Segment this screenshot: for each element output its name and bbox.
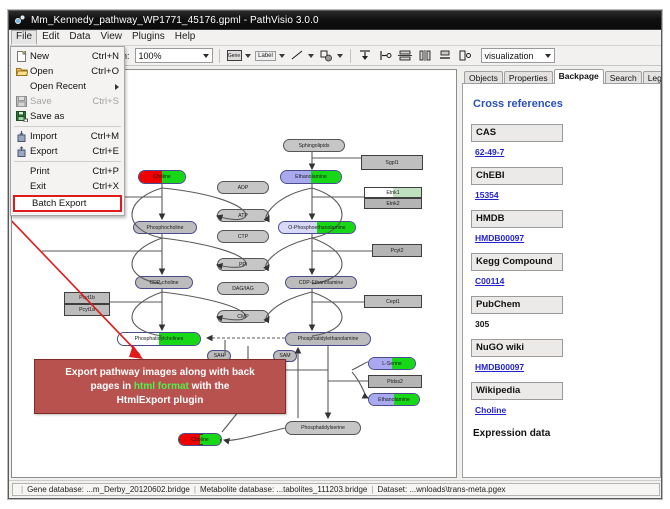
distribute-h-icon — [418, 49, 432, 62]
distribute-horizontal-button[interactable] — [417, 48, 434, 64]
menu-item-label: Open Recent — [30, 81, 115, 92]
metabolite-database-label: Metabolite database: — [200, 485, 274, 494]
align-left-icon — [378, 49, 392, 62]
stack-icon — [438, 49, 452, 62]
menu-item-label: Export — [30, 146, 92, 157]
node-label: Etnk1 — [386, 190, 399, 196]
node-label: PPi — [239, 262, 247, 268]
import-icon — [13, 131, 30, 142]
sidebar-tabstrip: Objects Properties Backpage Search Legen… — [462, 69, 661, 84]
align-top-button[interactable] — [357, 48, 374, 64]
menu-item-label: Batch Export — [15, 198, 120, 209]
menu-item-import[interactable]: ImportCtrl+M — [11, 129, 124, 144]
menu-view[interactable]: View — [95, 30, 127, 45]
toolbar-separator — [219, 49, 220, 63]
selection-handle[interactable] — [199, 433, 203, 435]
visualization-value: visualization — [485, 51, 534, 61]
xref-value-pubchem: 305 — [475, 319, 489, 329]
callout-line-2-a: pages in — [91, 381, 134, 392]
xref-value-wikipedia[interactable]: Choline — [475, 405, 506, 415]
node-label: ADP — [238, 185, 249, 191]
node-label: CDP-Ethanolamine — [299, 280, 343, 286]
node-label: Etnk2 — [386, 201, 399, 207]
xref-head-pubchem: PubChem — [471, 296, 563, 314]
xref-head-cas: CAS — [471, 124, 563, 142]
node-label: Sgpl1 — [385, 160, 398, 166]
menu-accelerator: Ctrl+O — [91, 66, 124, 77]
visualization-chevron-down-icon — [545, 54, 551, 58]
shape-tool-button[interactable] — [318, 48, 335, 64]
node-label: Pcyt1b — [79, 295, 95, 301]
cross-references-title: Cross references — [473, 98, 660, 110]
align-top-icon — [358, 49, 372, 62]
xref-value-nugo-wiki[interactable]: HMDB00097 — [475, 362, 524, 372]
dataset-label: Dataset: — [377, 485, 407, 494]
xref-entry-kegg-compound: Kegg Compound C00114 — [471, 253, 660, 289]
node-label: L-Serine — [382, 361, 402, 367]
xref-head-nugo-wiki: NuGO wiki — [471, 339, 563, 357]
label-icon: Label — [255, 51, 276, 61]
node-label: CTP — [238, 234, 248, 240]
gene-box-icon: Gene — [227, 50, 242, 61]
save-disk-icon — [13, 96, 30, 107]
label-tool-button[interactable]: Label — [255, 48, 277, 64]
menu-item-label: Exit — [30, 181, 92, 192]
node-label: Choline — [153, 174, 171, 180]
line-tool-chevron-down-icon[interactable] — [308, 54, 314, 58]
menu-item-save-as[interactable]: Save as — [11, 109, 124, 124]
zoom-value: 100% — [139, 51, 162, 61]
menu-accelerator: Ctrl+S — [92, 96, 124, 107]
chevron-down-icon — [203, 54, 209, 58]
menu-accelerator: Ctrl+P — [92, 166, 124, 177]
node-label: Phosphocholine — [147, 225, 184, 231]
menu-help[interactable]: Help — [170, 30, 201, 45]
tab-backpage[interactable]: Backpage — [554, 69, 604, 84]
group-icon — [458, 49, 472, 62]
line-icon — [291, 50, 304, 61]
pathvisio-app-icon — [14, 14, 26, 26]
shape-tool-chevron-down-icon[interactable] — [337, 54, 343, 58]
menubar: File Edit Data View Plugins Help — [9, 30, 661, 46]
new-document-icon — [13, 51, 30, 62]
xref-entry-hmdb: HMDB HMDB00097 — [471, 210, 660, 246]
export-icon — [13, 146, 30, 157]
metabolite-database-value: ...tabolites_111203.bridge — [276, 485, 367, 494]
toolbar-separator-2 — [350, 49, 351, 63]
node-label: Sphingolipids — [299, 143, 330, 149]
xref-entry-nugo-wiki: NuGO wiki HMDB00097 — [471, 339, 660, 375]
menu-separator — [14, 161, 121, 162]
menu-item-label: Print — [30, 166, 92, 177]
menu-item-open[interactable]: OpenCtrl+O — [11, 64, 124, 79]
node-label: CMP — [237, 314, 249, 320]
screenshot-root: Mm_Kennedy_pathway_WP1771_45176.gpml - P… — [0, 0, 670, 509]
backpage-content: Cross references CAS 62-49-7 ChEBI 15354… — [462, 83, 661, 478]
xref-head-hmdb: HMDB — [471, 210, 563, 228]
menu-edit[interactable]: Edit — [37, 30, 64, 45]
distribute-vertical-button[interactable] — [397, 48, 414, 64]
cross-reference-list: CAS 62-49-7 ChEBI 15354 HMDB HMDB00097 K… — [471, 124, 660, 418]
menu-item-new[interactable]: NewCtrl+N — [11, 49, 124, 64]
menu-item-label: Save as — [30, 111, 124, 122]
annotation-callout: Export pathway images along with back pa… — [34, 359, 286, 414]
window-titlebar: Mm_Kennedy_pathway_WP1771_45176.gpml - P… — [9, 11, 661, 30]
statusbar: | Gene database: ...m_Derby_20120602.bri… — [9, 480, 662, 498]
label-tool-chevron-down-icon[interactable] — [279, 54, 285, 58]
node-label: Choline — [191, 437, 209, 443]
node-label: Pcyt1a — [79, 307, 95, 313]
menu-accelerator: Ctrl+E — [92, 146, 124, 157]
node-label: Ethanolamine — [378, 397, 410, 403]
node-label: Ethanolamine — [295, 174, 327, 180]
callout-highlight: html format — [134, 381, 189, 392]
stack-button[interactable] — [437, 48, 454, 64]
gene-database-label: Gene database: — [27, 485, 84, 494]
xref-value-chebi[interactable]: 15354 — [475, 190, 499, 200]
menu-separator — [14, 126, 121, 127]
menu-accelerator: Ctrl+M — [91, 131, 124, 142]
node-label: Phosphatidylcholines — [135, 336, 184, 342]
xref-entry-wikipedia: Wikipedia Choline — [471, 382, 660, 418]
menu-data[interactable]: Data — [64, 30, 95, 45]
file-menu-dropdown[interactable]: NewCtrl+NOpenCtrl+OOpen RecentSaveCtrl+S… — [10, 46, 125, 216]
node-label: Pcyt2 — [391, 248, 404, 254]
expression-data-title: Expression data — [473, 428, 660, 439]
folder-open-icon — [13, 66, 30, 77]
align-left-button[interactable] — [377, 48, 394, 64]
status-text: | Gene database: ...m_Derby_20120602.bri… — [12, 483, 660, 496]
menu-accelerator: Ctrl+N — [92, 51, 124, 62]
node-label: Ptdss2 — [387, 379, 403, 385]
dataset-value: ...wnloads\trans-meta.pgex — [409, 485, 505, 494]
xref-head-kegg-compound: Kegg Compound — [471, 253, 563, 271]
callout-line-2-b: with the — [189, 381, 230, 392]
xref-entry-cas: CAS 62-49-7 — [471, 124, 660, 160]
menu-item-label: New — [30, 51, 92, 62]
xref-entry-pubchem: PubChem 305 — [471, 296, 660, 332]
menu-item-batch-export[interactable]: Batch Export — [13, 195, 122, 212]
xref-value-kegg-compound[interactable]: C00114 — [475, 276, 504, 286]
pathvisio-window: Mm_Kennedy_pathway_WP1771_45176.gpml - P… — [8, 10, 662, 499]
node-label: O-Phosphoethanolamine — [288, 225, 345, 231]
xref-head-chebi: ChEBI — [471, 167, 563, 185]
window-title: Mm_Kennedy_pathway_WP1771_45176.gpml - P… — [31, 15, 319, 26]
node-label: CDP-choline — [149, 280, 178, 286]
group-button[interactable] — [457, 48, 474, 64]
xref-value-hmdb[interactable]: HMDB00097 — [475, 233, 524, 243]
selection-handle[interactable] — [178, 433, 180, 435]
callout-line-1: Export pathway images along with back — [65, 367, 255, 378]
gene-database-value: ...m_Derby_20120602.bridge — [86, 485, 190, 494]
menu-file[interactable]: File — [11, 30, 37, 45]
menu-item-exit[interactable]: ExitCtrl+X — [11, 179, 124, 194]
node-label: Phosphatidylethanolamine — [298, 336, 359, 342]
node-label: Cept1 — [386, 299, 400, 305]
selection-handle[interactable] — [178, 439, 180, 443]
menu-item-open-recent[interactable]: Open Recent — [11, 79, 124, 94]
line-tool-button[interactable] — [289, 48, 306, 64]
sidebar: Objects Properties Backpage Search Legen… — [462, 69, 661, 478]
submenu-arrow-icon — [115, 84, 119, 90]
menu-item-label: Save — [30, 96, 92, 107]
menu-accelerator: Ctrl+X — [92, 181, 124, 192]
node-label: ATP — [238, 213, 248, 219]
gene-tool-chevron-down-icon[interactable] — [245, 54, 251, 58]
save-as-icon — [13, 111, 30, 122]
visualization-combobox[interactable]: visualization — [481, 48, 555, 63]
callout-line-3: HtmlExport plugin — [117, 395, 204, 406]
xref-value-cas[interactable]: 62-49-7 — [475, 147, 504, 157]
gene-product-tool-button[interactable]: Gene — [226, 48, 243, 64]
menu-item-label: Open — [30, 66, 91, 77]
distribute-v-icon — [398, 49, 412, 62]
menu-item-export[interactable]: ExportCtrl+E — [11, 144, 124, 159]
menu-plugins[interactable]: Plugins — [127, 30, 170, 45]
node-label: DAG/IAG — [232, 286, 254, 292]
zoom-combobox[interactable]: 100% — [135, 48, 213, 63]
menu-item-label: Import — [30, 131, 91, 142]
xref-head-wikipedia: Wikipedia — [471, 382, 563, 400]
menu-item-save[interactable]: SaveCtrl+S — [11, 94, 124, 109]
menu-item-print[interactable]: PrintCtrl+P — [11, 164, 124, 179]
xref-entry-chebi: ChEBI 15354 — [471, 167, 660, 203]
shape-icon — [320, 50, 333, 62]
node-label: Phosphatidylserine — [301, 425, 345, 431]
